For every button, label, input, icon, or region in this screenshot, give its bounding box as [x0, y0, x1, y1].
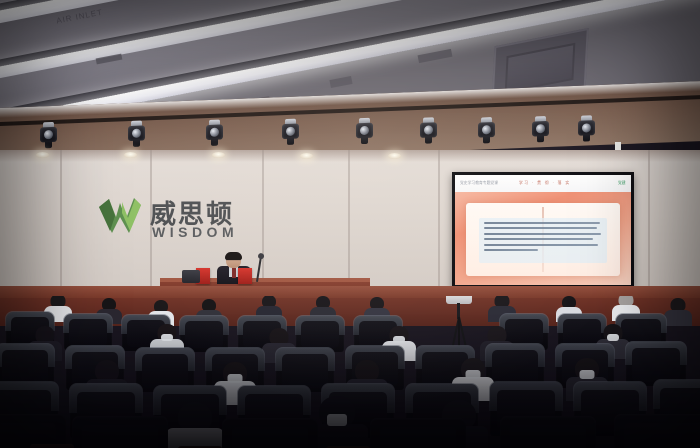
podium-device [182, 270, 200, 283]
stage-spotlight [578, 115, 595, 142]
audience-member [664, 298, 692, 324]
slide-text-block [479, 218, 607, 263]
logo-english-name: WISDOM [152, 224, 238, 240]
wall-panel-seam [648, 150, 650, 300]
recessed-downlight [36, 152, 49, 158]
stage-spotlight [532, 116, 549, 143]
wall-panel-seam [438, 150, 440, 300]
recessed-downlight [300, 153, 313, 159]
stage-spotlight [128, 120, 145, 147]
recessed-downlight [124, 152, 137, 158]
projection-screen: 党史学习教育专题党课 学习 · 贯 彻 · 落 实 党建 [452, 172, 634, 288]
slide-header-left-text: 党史学习教育专题党课 [460, 180, 498, 186]
ceiling-vent-slot [329, 76, 352, 88]
wall-top-shadow [0, 150, 700, 162]
slide-header-bar: 党史学习教育专题党课 学习 · 贯 彻 · 落 实 党建 [455, 175, 631, 192]
stage-spotlight [420, 117, 437, 144]
slide-header-right-text: 党建 [618, 180, 626, 186]
recessed-downlight [212, 152, 225, 158]
audience-member [166, 402, 224, 448]
seat-armrest [30, 444, 74, 448]
wisdom-leaf-mark-icon [96, 193, 144, 237]
stage-spotlight [478, 117, 495, 144]
slide-surface: 党史学习教育专题党课 学习 · 贯 彻 · 落 实 党建 [455, 175, 631, 285]
auditorium-seat [222, 418, 318, 448]
ceiling-vent-slot [418, 49, 453, 63]
auditorium-seat [614, 414, 700, 448]
recessed-downlight [388, 153, 401, 159]
slide-header-center-text: 学习 · 贯 彻 · 落 实 [519, 180, 571, 186]
red-document-folder [238, 268, 252, 284]
stage-spotlight [282, 119, 299, 146]
auditorium-seat [72, 416, 168, 448]
auditorium-seat [370, 418, 466, 448]
audience-seating-area [0, 296, 700, 448]
stage-spotlight [356, 118, 373, 145]
video-camera-on-tripod [436, 296, 482, 350]
auditorium-seat [500, 416, 596, 448]
stage-spotlight [40, 122, 57, 149]
stage-spotlight [206, 119, 223, 146]
auditorium-seat [0, 414, 66, 448]
wall-panel-seam [60, 150, 62, 300]
wisdom-company-logo: 威思顿 WISDOM [96, 191, 246, 247]
slide-body [455, 192, 631, 285]
conference-hall-photo: AIR INLET [0, 0, 700, 448]
